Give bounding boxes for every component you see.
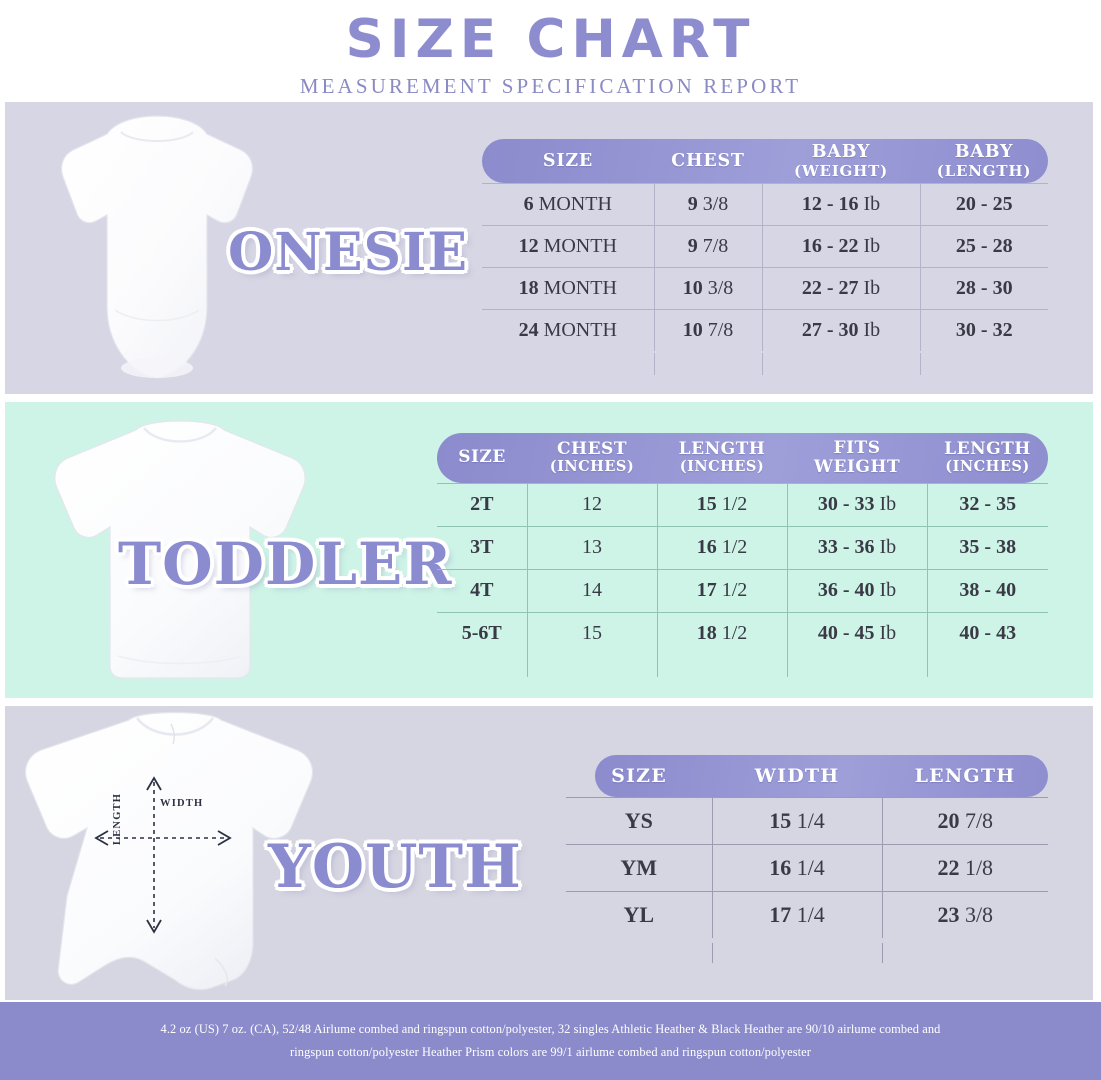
cell-size: 12 MONTH — [482, 225, 654, 267]
page-subtitle: MEASUREMENT SPECIFICATION REPORT — [0, 74, 1101, 99]
cell-weight: 30 - 33 Ib — [787, 483, 927, 526]
page-header: SIZE CHART MEASUREMENT SPECIFICATION REP… — [0, 0, 1101, 98]
table-divider — [920, 353, 921, 375]
table-divider — [654, 353, 655, 375]
youth-size-table: SIZE WIDTH LENGTH YS 15 1/4 20 7/8 YM 16… — [566, 755, 1048, 938]
cell-weight: 22 - 27 Ib — [762, 267, 920, 309]
cell-length: 28 - 30 — [920, 267, 1048, 309]
cell-chest: 10 3/8 — [654, 267, 762, 309]
column-header-size: SIZE — [482, 139, 654, 183]
table-row: 18 MONTH 10 3/8 22 - 27 Ib 28 - 30 — [482, 267, 1048, 309]
footer-disclaimer: 4.2 oz (US) 7 oz. (CA), 52/48 Airlume co… — [0, 1002, 1101, 1080]
column-header-length: LENGTH — [882, 755, 1048, 797]
table-divider — [712, 943, 713, 963]
footer-line-2: ringspun cotton/polyester Heather Prism … — [38, 1041, 1063, 1064]
section-label-onesie: ONESIE — [228, 222, 468, 283]
cell-length2: 32 - 35 — [927, 483, 1048, 526]
table-row: 6 MONTH 9 3/8 12 - 16 Ib 20 - 25 — [482, 183, 1048, 225]
cell-weight: 12 - 16 Ib — [762, 183, 920, 225]
cell-size: 3T — [437, 526, 527, 569]
cell-length: 16 1/2 — [657, 526, 787, 569]
column-header-chest: CHEST — [654, 139, 762, 183]
measurement-label-width: WIDTH — [160, 798, 203, 809]
cell-width: 15 1/4 — [712, 797, 882, 844]
cell-size: 2T — [437, 483, 527, 526]
table-row: 2T 12 15 1/2 30 - 33 Ib 32 - 35 — [437, 483, 1048, 526]
measurement-label-length: LENGTH — [112, 793, 123, 845]
cell-size: YL — [566, 891, 712, 938]
table-divider — [762, 353, 763, 375]
cell-weight: 33 - 36 Ib — [787, 526, 927, 569]
column-header-baby-length: BABY (LENGTH) — [920, 139, 1048, 183]
cell-size: YM — [566, 844, 712, 891]
measurement-guides — [90, 760, 270, 950]
column-header-chest-inches: CHEST (INCHES) — [527, 433, 657, 483]
cell-weight: 36 - 40 Ib — [787, 569, 927, 612]
cell-chest: 12 — [527, 483, 657, 526]
onesie-size-table: SIZE CHEST BABY (WEIGHT) BABY (LENGTH) 6… — [482, 139, 1048, 351]
cell-size: 5-6T — [437, 612, 527, 655]
section-label-youth: YOUTH — [268, 832, 522, 902]
size-chart-page: SIZE CHART MEASUREMENT SPECIFICATION REP… — [0, 0, 1101, 1080]
column-header-size: SIZE — [566, 755, 712, 797]
cell-width: 16 1/4 — [712, 844, 882, 891]
cell-size: 18 MONTH — [482, 267, 654, 309]
page-title: SIZE CHART — [0, 12, 1101, 68]
cell-length2: 40 - 43 — [927, 612, 1048, 655]
cell-size: 6 MONTH — [482, 183, 654, 225]
table-divider — [927, 655, 928, 677]
cell-length: 20 - 25 — [920, 183, 1048, 225]
cell-length2: 35 - 38 — [927, 526, 1048, 569]
cell-chest: 14 — [527, 569, 657, 612]
cell-length: 22 1/8 — [882, 844, 1048, 891]
column-header-length-inches-2: LENGTH (INCHES) — [927, 433, 1048, 483]
column-header-width: WIDTH — [712, 755, 882, 797]
cell-length: 15 1/2 — [657, 483, 787, 526]
table-row: 24 MONTH 10 7/8 27 - 30 Ib 30 - 32 — [482, 309, 1048, 351]
cell-length: 25 - 28 — [920, 225, 1048, 267]
cell-length: 30 - 32 — [920, 309, 1048, 351]
cell-chest: 10 7/8 — [654, 309, 762, 351]
cell-width: 17 1/4 — [712, 891, 882, 938]
table-row: 5-6T 15 18 1/2 40 - 45 Ib 40 - 43 — [437, 612, 1048, 655]
table-row: YL 17 1/4 23 3/8 — [566, 891, 1048, 938]
column-header-length-inches: LENGTH (INCHES) — [657, 433, 787, 483]
cell-length: 18 1/2 — [657, 612, 787, 655]
cell-length: 17 1/2 — [657, 569, 787, 612]
table-row: YS 15 1/4 20 7/8 — [566, 797, 1048, 844]
table-divider — [657, 655, 658, 677]
column-header-baby-weight: BABY (WEIGHT) — [762, 139, 920, 183]
cell-weight: 16 - 22 Ib — [762, 225, 920, 267]
cell-weight: 27 - 30 Ib — [762, 309, 920, 351]
cell-chest: 9 7/8 — [654, 225, 762, 267]
toddler-size-table: SIZE CHEST (INCHES) LENGTH (INCHES) FITS… — [437, 433, 1048, 655]
cell-size: 4T — [437, 569, 527, 612]
table-row: YM 16 1/4 22 1/8 — [566, 844, 1048, 891]
column-header-fits-weight: FITS WEIGHT — [787, 433, 927, 483]
table-divider — [787, 655, 788, 677]
table-divider — [882, 943, 883, 963]
table-header-row: SIZE WIDTH LENGTH — [566, 755, 1048, 797]
table-header-row: SIZE CHEST BABY (WEIGHT) BABY (LENGTH) — [482, 139, 1048, 183]
table-row: 4T 14 17 1/2 36 - 40 Ib 38 - 40 — [437, 569, 1048, 612]
table-row: 12 MONTH 9 7/8 16 - 22 Ib 25 - 28 — [482, 225, 1048, 267]
table-row: 3T 13 16 1/2 33 - 36 Ib 35 - 38 — [437, 526, 1048, 569]
cell-length2: 38 - 40 — [927, 569, 1048, 612]
cell-length: 20 7/8 — [882, 797, 1048, 844]
cell-chest: 9 3/8 — [654, 183, 762, 225]
cell-size: YS — [566, 797, 712, 844]
cell-chest: 15 — [527, 612, 657, 655]
cell-chest: 13 — [527, 526, 657, 569]
column-header-size: SIZE — [437, 433, 527, 483]
table-header-row: SIZE CHEST (INCHES) LENGTH (INCHES) FITS… — [437, 433, 1048, 483]
cell-weight: 40 - 45 Ib — [787, 612, 927, 655]
section-label-toddler: TODDLER — [118, 530, 452, 598]
cell-length: 23 3/8 — [882, 891, 1048, 938]
table-divider — [527, 655, 528, 677]
cell-size: 24 MONTH — [482, 309, 654, 351]
footer-line-1: 4.2 oz (US) 7 oz. (CA), 52/48 Airlume co… — [38, 1018, 1063, 1041]
